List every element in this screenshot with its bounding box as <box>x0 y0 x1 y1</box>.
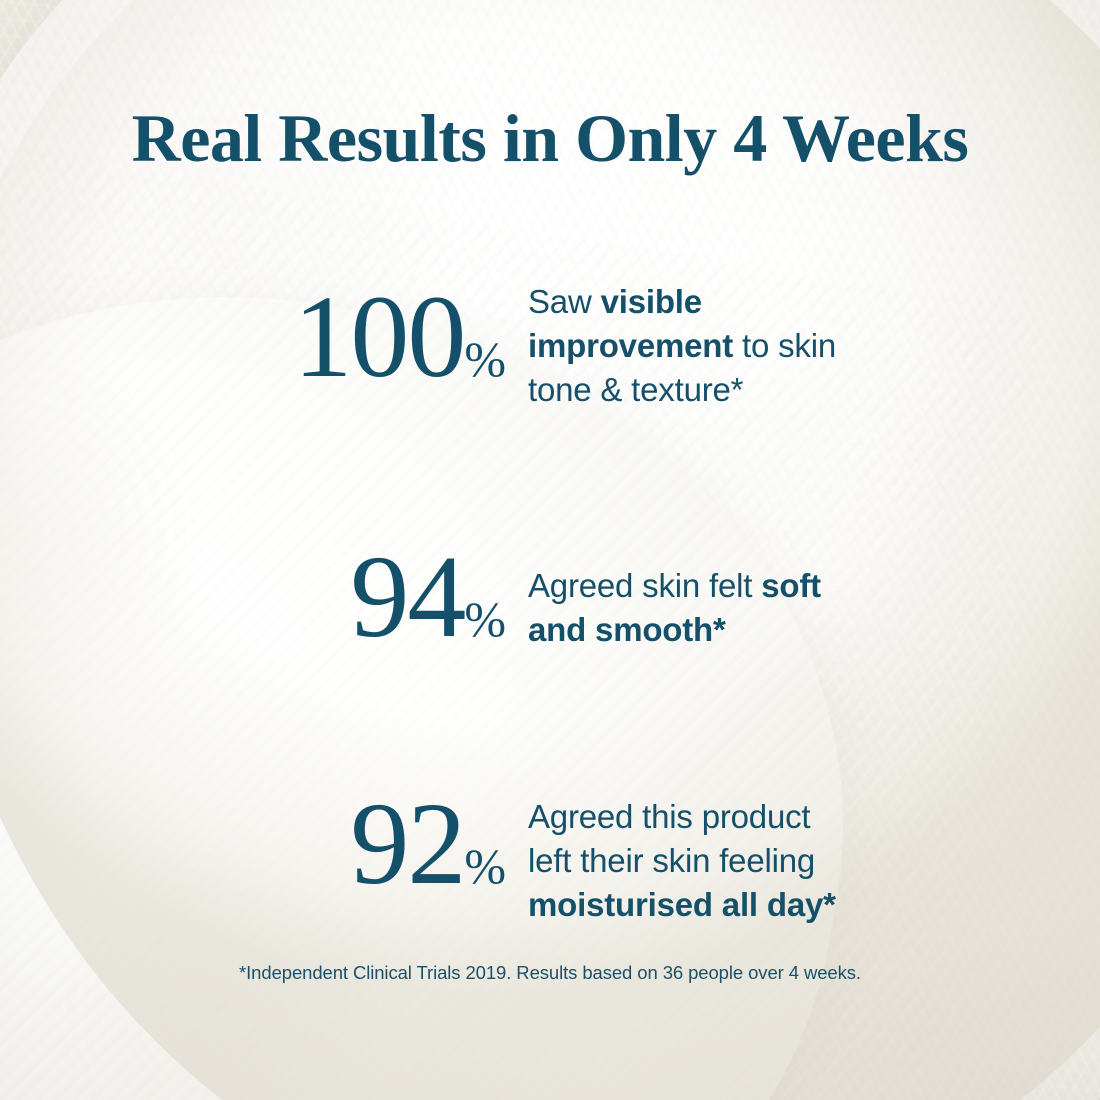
stat-desc-emphasis: soft <box>761 567 821 604</box>
stat-description-94: Agreed skin felt soft and smooth* <box>505 534 1100 652</box>
stat-desc-text: tone & texture* <box>528 371 743 408</box>
stat-description-100: Saw visible improvement to skin tone & t… <box>505 268 1100 413</box>
stat-number: 94 <box>350 531 464 662</box>
content-layer: Real Results in Only 4 Weeks 100% Saw vi… <box>0 0 1100 1100</box>
stat-percent-symbol: % <box>464 838 505 894</box>
footnote-disclaimer: *Independent Clinical Trials 2019. Resul… <box>0 962 1100 984</box>
stat-description-92: Agreed this product left their skin feel… <box>505 781 1100 928</box>
stat-item-92: 92% Agreed this product left their skin … <box>0 781 1100 928</box>
stat-figure-94: 94% <box>0 534 505 656</box>
stat-figure-100: 100% <box>0 268 505 396</box>
stat-number: 100 <box>293 271 464 402</box>
stat-desc-text: to skin <box>733 327 836 364</box>
stat-desc-text: left their skin feeling <box>528 842 815 879</box>
stat-desc-emphasis: moisturised all day* <box>528 886 836 923</box>
stat-figure-92: 92% <box>0 781 505 903</box>
stat-desc-emphasis: improvement <box>528 327 733 364</box>
stat-desc-emphasis: visible <box>601 283 702 320</box>
stat-number: 92 <box>350 778 464 909</box>
promo-canvas: Real Results in Only 4 Weeks 100% Saw vi… <box>0 0 1100 1100</box>
stat-item-94: 94% Agreed skin felt soft and smooth* <box>0 534 1100 656</box>
stat-desc-text: Agreed this product <box>528 798 810 835</box>
stat-percent-symbol: % <box>464 331 505 387</box>
stat-desc-text: Agreed skin felt <box>528 567 761 604</box>
stat-desc-emphasis: and smooth* <box>528 611 726 648</box>
stat-desc-text: Saw <box>528 283 601 320</box>
page-title: Real Results in Only 4 Weeks <box>0 104 1100 172</box>
stat-item-100: 100% Saw visible improvement to skin ton… <box>0 268 1100 413</box>
statistics-list: 100% Saw visible improvement to skin ton… <box>0 268 1100 927</box>
stat-percent-symbol: % <box>464 591 505 647</box>
